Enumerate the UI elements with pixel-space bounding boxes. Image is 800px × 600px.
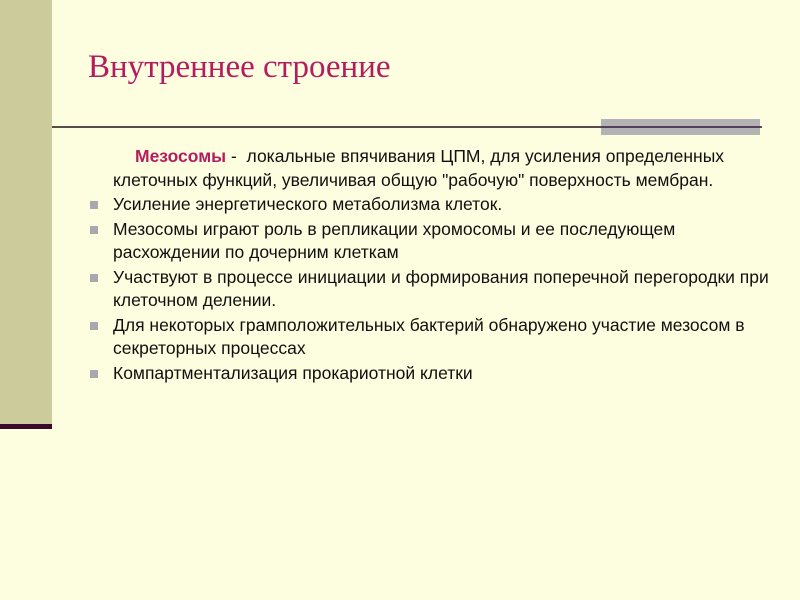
square-bullet-icon	[90, 274, 98, 282]
list-item-label: Мезосомы играют роль в репликации хромос…	[88, 218, 778, 265]
square-bullet-icon	[90, 370, 98, 378]
list-item: Мезосомы играют роль в репликации хромос…	[88, 218, 778, 265]
lead-dash: -	[226, 146, 246, 166]
header-gray-tab-line	[601, 126, 760, 128]
sidebar-decoration-band	[0, 0, 52, 424]
lead-paragraph-text: Мезосомы - локальные впячивания ЦПМ, для…	[88, 145, 778, 192]
list-item: Участвуют в процессе инициации и формиро…	[88, 266, 778, 313]
lead-paragraph: Мезосомы - локальные впячивания ЦПМ, для…	[88, 145, 778, 192]
square-bullet-icon	[90, 226, 98, 234]
list-item: Для некоторых грамположительных бактерий…	[88, 314, 778, 361]
list-item-label: Усиление энергетического метаболизма кле…	[88, 193, 778, 217]
slide-body: Мезосомы - локальные впячивания ЦПМ, для…	[88, 145, 778, 386]
slide: Внутреннее строение Мезосомы - локальные…	[0, 0, 800, 600]
list-item-label: Компартментализация прокариотной клетки	[88, 362, 778, 386]
list-item-label: Для некоторых грамположительных бактерий…	[88, 314, 778, 361]
list-item-label: Участвуют в процессе инициации и формиро…	[88, 266, 778, 313]
page-title: Внутреннее строение	[88, 47, 728, 87]
list-item: Компартментализация прокариотной клетки	[88, 362, 778, 386]
lead-term: Мезосомы	[135, 146, 226, 166]
square-bullet-icon	[90, 322, 98, 330]
list-item: Усиление энергетического метаболизма кле…	[88, 193, 778, 217]
sidebar-decoration-foot	[0, 424, 52, 429]
square-bullet-icon	[90, 201, 98, 209]
